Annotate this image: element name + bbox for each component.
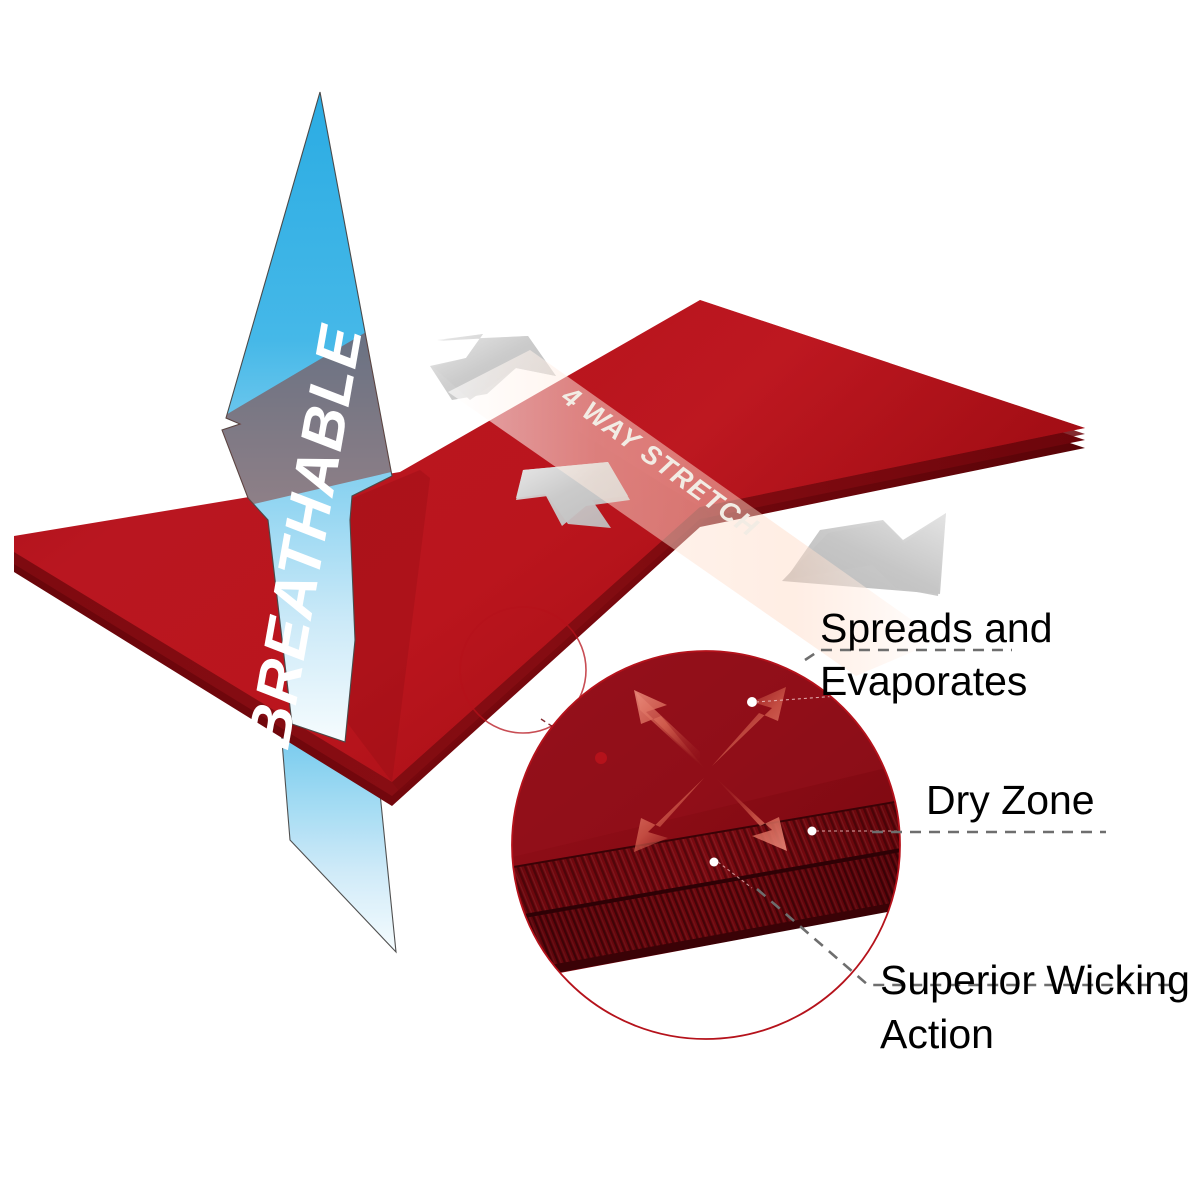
marker-dot-dry-zone	[808, 827, 817, 836]
marker-dot-wicking	[710, 858, 719, 867]
magnifier-source-dot	[595, 752, 607, 764]
callout-dry-zone-line1: Dry Zone	[926, 777, 1095, 823]
callout-wicking-line2: Action	[880, 1011, 994, 1057]
callout-spreads-line1: Spreads and	[820, 605, 1053, 651]
callout-wicking-line1: Superior Wicking	[880, 957, 1190, 1003]
callout-spreads-line2: Evaporates	[820, 658, 1027, 704]
magnifier-circle	[490, 640, 930, 1070]
callout-superior-wicking: Superior Wicking Action	[880, 957, 1190, 1057]
diagram-canvas: BREATHABLE 4 WAY STRETCH	[0, 0, 1200, 1200]
fabric-technology-illustration: BREATHABLE 4 WAY STRETCH	[0, 0, 1200, 1200]
marker-dot-evaporates	[747, 697, 757, 707]
callout-dry-zone: Dry Zone	[926, 777, 1095, 823]
